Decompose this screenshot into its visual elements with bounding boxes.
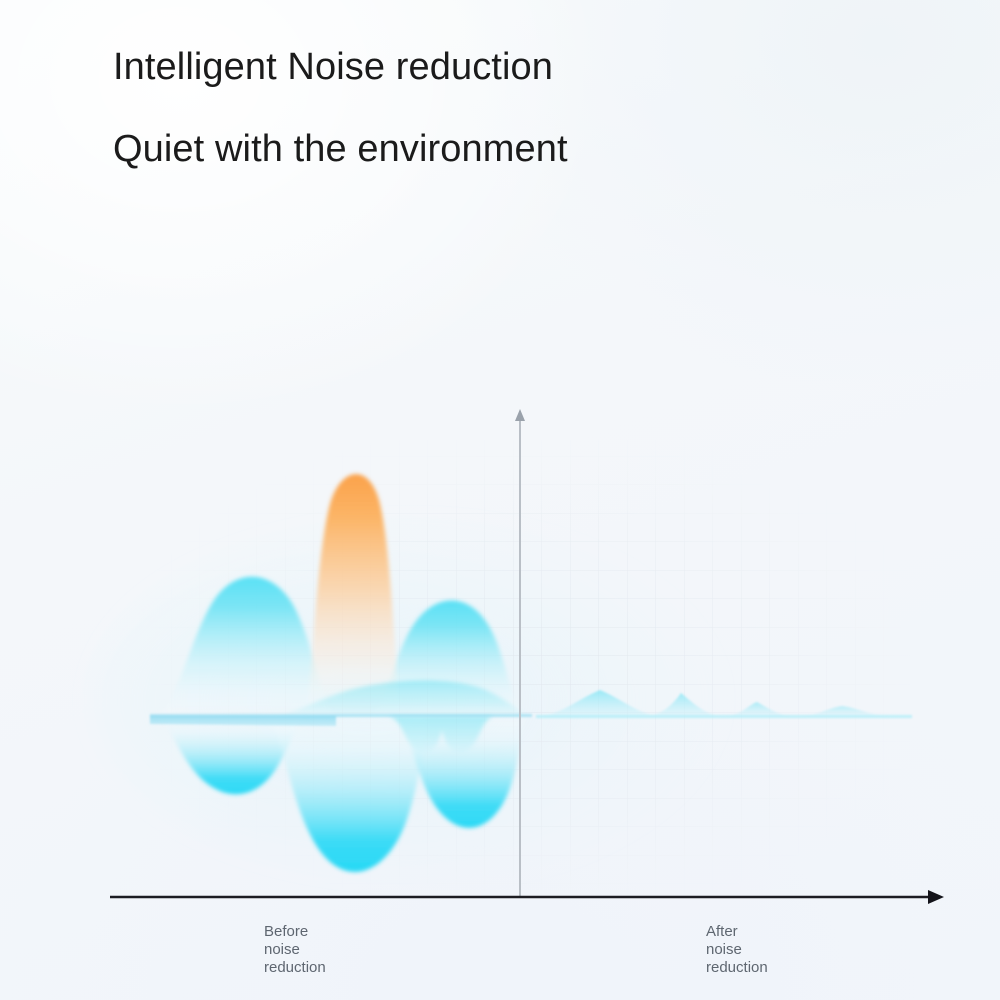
x-axis-arrow-icon xyxy=(928,890,944,904)
label-before-noise-reduction: Before noise reduction xyxy=(264,923,326,977)
waveform-svg xyxy=(0,0,1000,1000)
label-after-noise-reduction: After noise reduction xyxy=(706,923,768,977)
waveform-chart xyxy=(0,0,1000,1000)
noise-reduction-illustration: Intelligent Noise reduction Quiet with t… xyxy=(0,0,1000,1000)
y-axis-arrow-icon xyxy=(515,409,525,421)
